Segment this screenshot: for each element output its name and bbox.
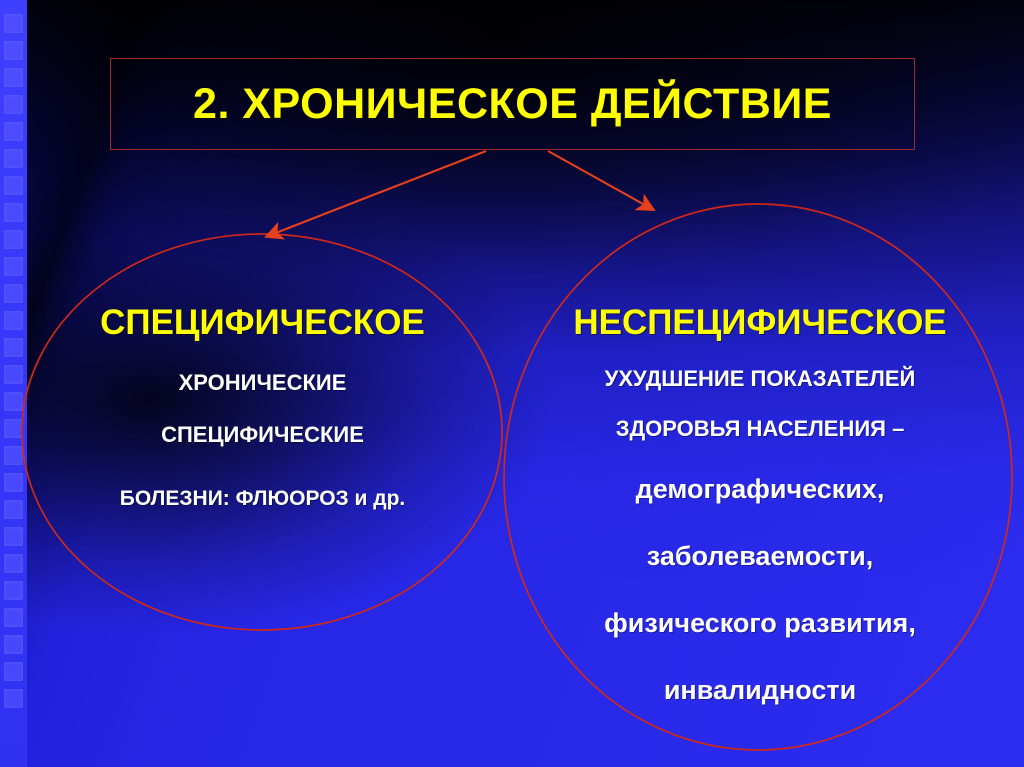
specific-text-group: СПЕЦИФИЧЕСКОЕ ХРОНИЧЕСКИЕ СПЕЦИФИЧЕСКИЕ … (35, 305, 490, 509)
decorative-square (4, 419, 23, 438)
decorative-square (4, 689, 23, 708)
decorative-square (4, 527, 23, 546)
decorative-square (4, 473, 23, 492)
specific-line-2: СПЕЦИФИЧЕСКИЕ (35, 424, 490, 446)
decorative-square (4, 230, 23, 249)
specific-line-1: ХРОНИЧЕСКИЕ (35, 372, 490, 394)
nonspecific-line-1: УХУДШЕНИЕ ПОКАЗАТЕЛЕЙ (525, 368, 995, 390)
nonspecific-line-2: ЗДОРОВЬЯ НАСЕЛЕНИЯ – (525, 418, 995, 440)
specific-line-3: БОЛЕЗНИ: ФЛЮОРОЗ и др. (35, 488, 490, 509)
decorative-square (4, 392, 23, 411)
nonspecific-line-3: демографических, (525, 476, 995, 503)
decorative-square-column (4, 14, 23, 754)
decorative-square (4, 68, 23, 87)
decorative-square (4, 581, 23, 600)
page-title: 2. ХРОНИЧЕСКОЕ ДЕЙСТВИЕ (193, 80, 832, 129)
decorative-square (4, 122, 23, 141)
nonspecific-line-5: физического развития, (525, 610, 995, 637)
decorative-square (4, 14, 23, 33)
decorative-square (4, 500, 23, 519)
decorative-square (4, 149, 23, 168)
decorative-square (4, 662, 23, 681)
decorative-square (4, 338, 23, 357)
decorative-square (4, 257, 23, 276)
decorative-square (4, 203, 23, 222)
presentation-slide: 2. ХРОНИЧЕСКОЕ ДЕЙСТВИЕ СПЕЦИФИЧЕСКОЕ ХР… (0, 0, 1024, 767)
specific-heading: СПЕЦИФИЧЕСКОЕ (35, 305, 490, 342)
nonspecific-line-6: инвалидности (525, 677, 995, 704)
decorative-square (4, 41, 23, 60)
decorative-square (4, 365, 23, 384)
decorative-square (4, 635, 23, 654)
nonspecific-text-group: НЕСПЕЦИФИЧЕСКОЕ УХУДШЕНИЕ ПОКАЗАТЕЛЕЙ ЗД… (525, 305, 995, 704)
decorative-square (4, 95, 23, 114)
decorative-square (4, 176, 23, 195)
nonspecific-heading: НЕСПЕЦИФИЧЕСКОЕ (525, 305, 995, 342)
slide-title-box: 2. ХРОНИЧЕСКОЕ ДЕЙСТВИЕ (110, 58, 915, 150)
decorative-square (4, 608, 23, 627)
decorative-square (4, 284, 23, 303)
decorative-square (4, 311, 23, 330)
decorative-square (4, 446, 23, 465)
nonspecific-line-4: заболеваемости, (525, 543, 995, 570)
decorative-square (4, 554, 23, 573)
